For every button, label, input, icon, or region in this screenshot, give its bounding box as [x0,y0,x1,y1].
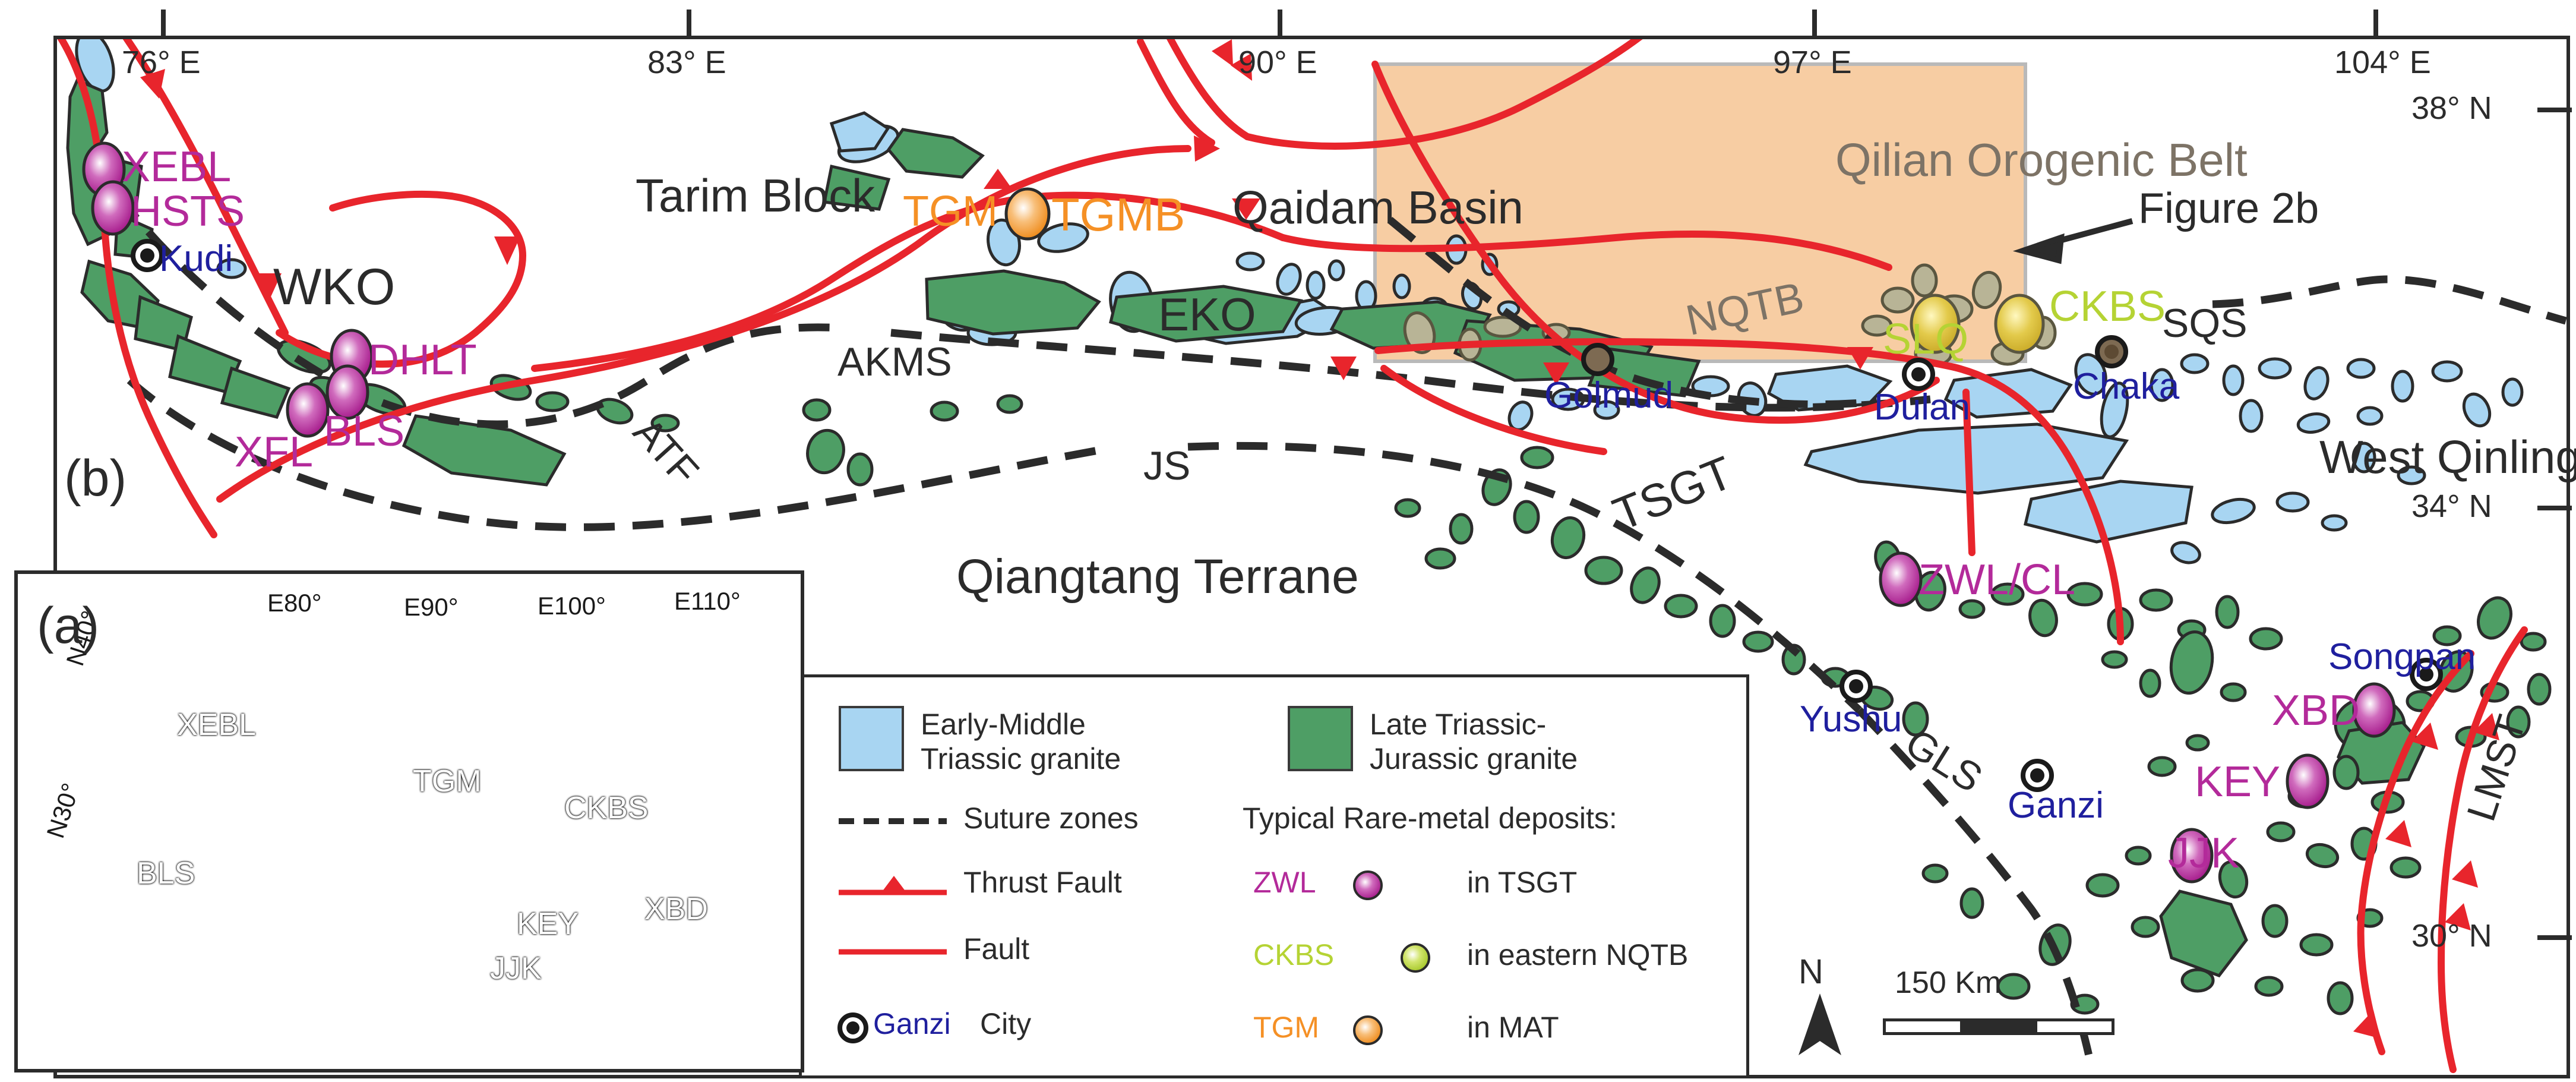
deposit-label-xebl: XEBL [122,146,231,188]
legend-label-early-middle-triassic-l2: Triassic granite [921,743,1121,775]
deposit-label-tgm: TGM [903,190,998,233]
deposit-marker-zwl-cl [1880,553,1921,605]
inset-deposit-label-bls: BLS [137,856,195,891]
deposit-label-zwl-cl: ZWL/CL [1918,559,2075,601]
lon-tick-label-0: 76° E [122,46,201,78]
lon-tick-label-2: 90° E [1238,46,1317,78]
scale-distance-label: 150 Km [1895,965,2001,1001]
terrane-label-west-qinling: West Qinling [2319,434,2576,480]
deposit-marker-key [2287,755,2328,807]
legend-fault-icon [836,946,949,958]
north-arrow-icon [1794,990,1847,1061]
deposit-marker-tgm [1006,189,1049,239]
legend-label-suture-zones: Suture zones [963,802,1139,835]
lon-tick-label-1: 83° E [647,46,726,78]
city-label-dulan: Dulan [1874,389,1970,426]
legend-deposit-desc-tgm: in MAT [1467,1011,1559,1044]
deposit-label-key: KEY [2195,761,2280,803]
legend-suture-line-icon [836,814,949,828]
deposit-label-dhlt: DHLT [368,339,477,381]
legend-thrust-fault-icon [836,873,949,901]
panel-b-tag: (b) [64,453,127,504]
legend-deposit-desc-zwl: in TSGT [1467,866,1577,899]
terrane-label-qilian-orogenic-belt: Qilian Orogenic Belt [1835,137,2248,183]
inset-lon-tick-2: E100° [538,592,606,620]
terrane-label-wko: WKO [273,261,395,313]
legend-deposit-code-zwl: ZWL [1253,866,1316,899]
legend-label-fault: Fault [963,933,1029,966]
inset-lon-tick-1: E90° [404,593,459,622]
deposit-label-ckbs: CKBS [2049,285,2166,328]
lat-tick-label-1: 34° N [2411,490,2492,522]
inset-lon-tick-0: E80° [267,589,322,617]
inset-deposit-label-xebl: XEBL [177,707,256,743]
deposit-marker-xbd [2354,684,2394,736]
city-label-songpan: Songpan [2328,639,2476,676]
figure2b-arrow [2023,221,2132,260]
legend-label-early-middle-triassic-l1: Early-Middle [921,708,1086,741]
lat-tick-label-0: 38° N [2411,92,2492,124]
deposit-label-hsts: HSTS [131,190,245,233]
city-label-kudi: Kudi [159,241,233,277]
map-label-tgmb: TGMB [1051,191,1185,238]
lon-tick-label-4: 104° E [2334,46,2431,78]
suture-label-js: JS [1143,446,1190,486]
deposit-label-bls: BLS [324,410,404,453]
suture-label-sqs: SQS [2162,303,2248,343]
deposit-label-xbd: XBD [2272,689,2360,732]
terrane-label-qiangtang-terrane: Qiangtang Terrane [956,553,1359,601]
legend-deposit-code-ckbs: CKBS [1253,939,1334,971]
suture-label-akms: AKMS [837,342,952,382]
inset-lon-tick-3: E110° [674,587,741,616]
terrane-label-eko: EKO [1158,291,1256,337]
inset-deposit-label-key: KEY [517,906,579,942]
city-label-ganzi: Ganzi [2008,787,2104,824]
legend-label-city: City [980,1008,1031,1040]
legend-deposit-code-tgm: TGM [1253,1011,1319,1044]
terrane-label-qaidam-basin: Qaidam Basin [1232,184,1524,231]
city-label-yushu: Yushu [1800,701,1902,738]
inset-deposit-label-ckbs: CKBS [564,790,649,826]
legend-label-thrust-fault: Thrust Fault [963,866,1122,899]
city-label-golmud: Golmud [1544,377,1673,414]
legend-label-deposits-title: Typical Rare-metal deposits: [1243,802,1617,835]
scale-bar [1883,1018,2114,1035]
legend-city-icon [835,1010,871,1046]
deposit-label-xfl: XFL [235,431,313,474]
legend-panel: Early-Middle Triassic granite Late Trias… [799,674,1749,1078]
legend-label-city-name: Ganzi [873,1008,951,1040]
inset-deposit-label-tgm: TGM [413,764,482,799]
deposit-label-jjk: JJK [2168,832,2239,875]
lon-tick-label-3: 97° E [1773,46,1852,78]
legend-deposit-dot-tgm [1351,1014,1385,1047]
inset-deposit-label-xbd: XBD [644,891,708,927]
legend-swatch-late-triassic-jurassic [1288,706,1353,771]
legend-label-late-triassic-jurassic-l1: Late Triassic- [1370,708,1546,741]
legend-deposit-dot-ckbs [1399,941,1432,974]
lat-tick-label-2: 30° N [2411,920,2492,952]
north-letter: N [1799,952,1823,992]
terrane-label-tarim-block: Tarim Block [636,172,875,219]
deposit-label-slq: SLQ [1883,318,1968,361]
legend-swatch-early-middle-triassic [839,706,904,771]
inset-map-panel [14,570,804,1072]
inset-deposit-label-jjk: JJK [490,951,542,986]
figure-root: 76° E83° E90° E97° E104° E38° N34° N30° … [0,0,2576,1082]
figure2b-annotation: Figure 2b [2138,187,2319,230]
city-label-chaka: Chaka [2073,368,2179,405]
legend-deposit-dot-zwl [1351,869,1385,902]
panel-a-tag: (a) [37,600,99,651]
legend-label-late-triassic-jurassic-l2: Jurassic granite [1370,743,1578,775]
legend-deposit-desc-ckbs: in eastern NQTB [1467,939,1688,971]
